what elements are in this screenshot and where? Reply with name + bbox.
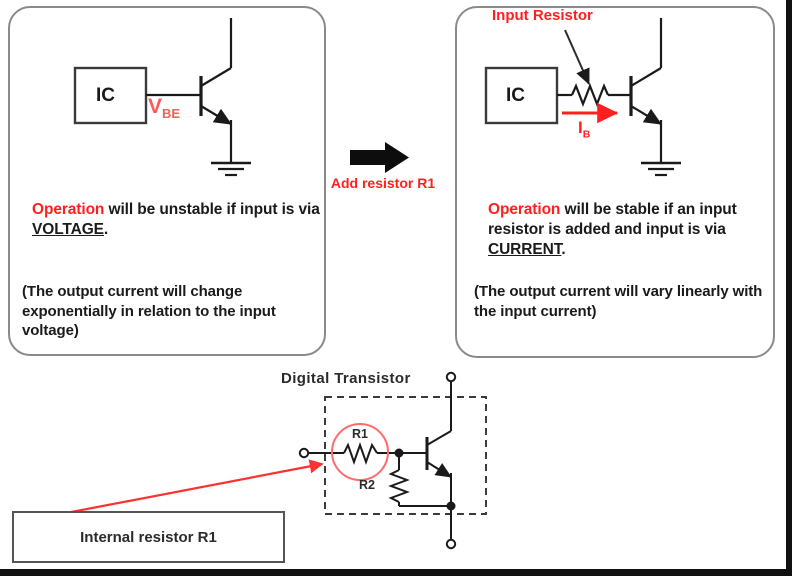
right-statement-underlined: CURRENT xyxy=(488,241,561,258)
vbe-symbol: V xyxy=(148,95,162,118)
internal-resistor-pointer-arrow xyxy=(66,464,322,513)
dt-package-boundary xyxy=(325,397,486,514)
ic-label-left: IC xyxy=(96,85,115,107)
dt-wiring xyxy=(300,373,455,548)
ic-label-right: IC xyxy=(506,85,525,107)
right-statement-end: . xyxy=(561,241,565,258)
right-arrow-icon xyxy=(350,142,409,173)
r1-label: R1 xyxy=(352,427,368,441)
vbe-label: VBE xyxy=(148,95,180,121)
ib-label: IB xyxy=(578,118,590,140)
internal-resistor-callout-box: Internal resistor R1 xyxy=(12,511,285,563)
left-statement-rest: will be unstable if input is via xyxy=(104,201,319,218)
digital-transistor-title: Digital Transistor xyxy=(281,370,411,387)
left-statement: Operation will be unstable if input is v… xyxy=(32,200,322,240)
internal-resistor-callout-label: Internal resistor R1 xyxy=(14,513,283,561)
figure-stage: IC VBE Operation will be unstable if inp… xyxy=(0,0,792,576)
right-note: (The output current will vary linearly w… xyxy=(474,282,774,321)
ib-subscript: B xyxy=(583,128,591,140)
add-resistor-caption: Add resistor R1 xyxy=(313,175,453,191)
right-statement-lead: Operation xyxy=(488,201,560,218)
input-resistor-callout: Input Resistor xyxy=(492,7,593,24)
r2-label: R2 xyxy=(359,478,375,492)
right-statement: Operation will be stable if an input res… xyxy=(488,200,773,260)
left-note: (The output current will change exponent… xyxy=(22,282,322,341)
figure-frame: IC VBE Operation will be unstable if inp… xyxy=(0,0,792,576)
left-statement-end: . xyxy=(104,221,108,238)
left-statement-underlined: VOLTAGE xyxy=(32,221,104,238)
left-statement-lead: Operation xyxy=(32,201,104,218)
vbe-subscript: BE xyxy=(162,106,180,121)
